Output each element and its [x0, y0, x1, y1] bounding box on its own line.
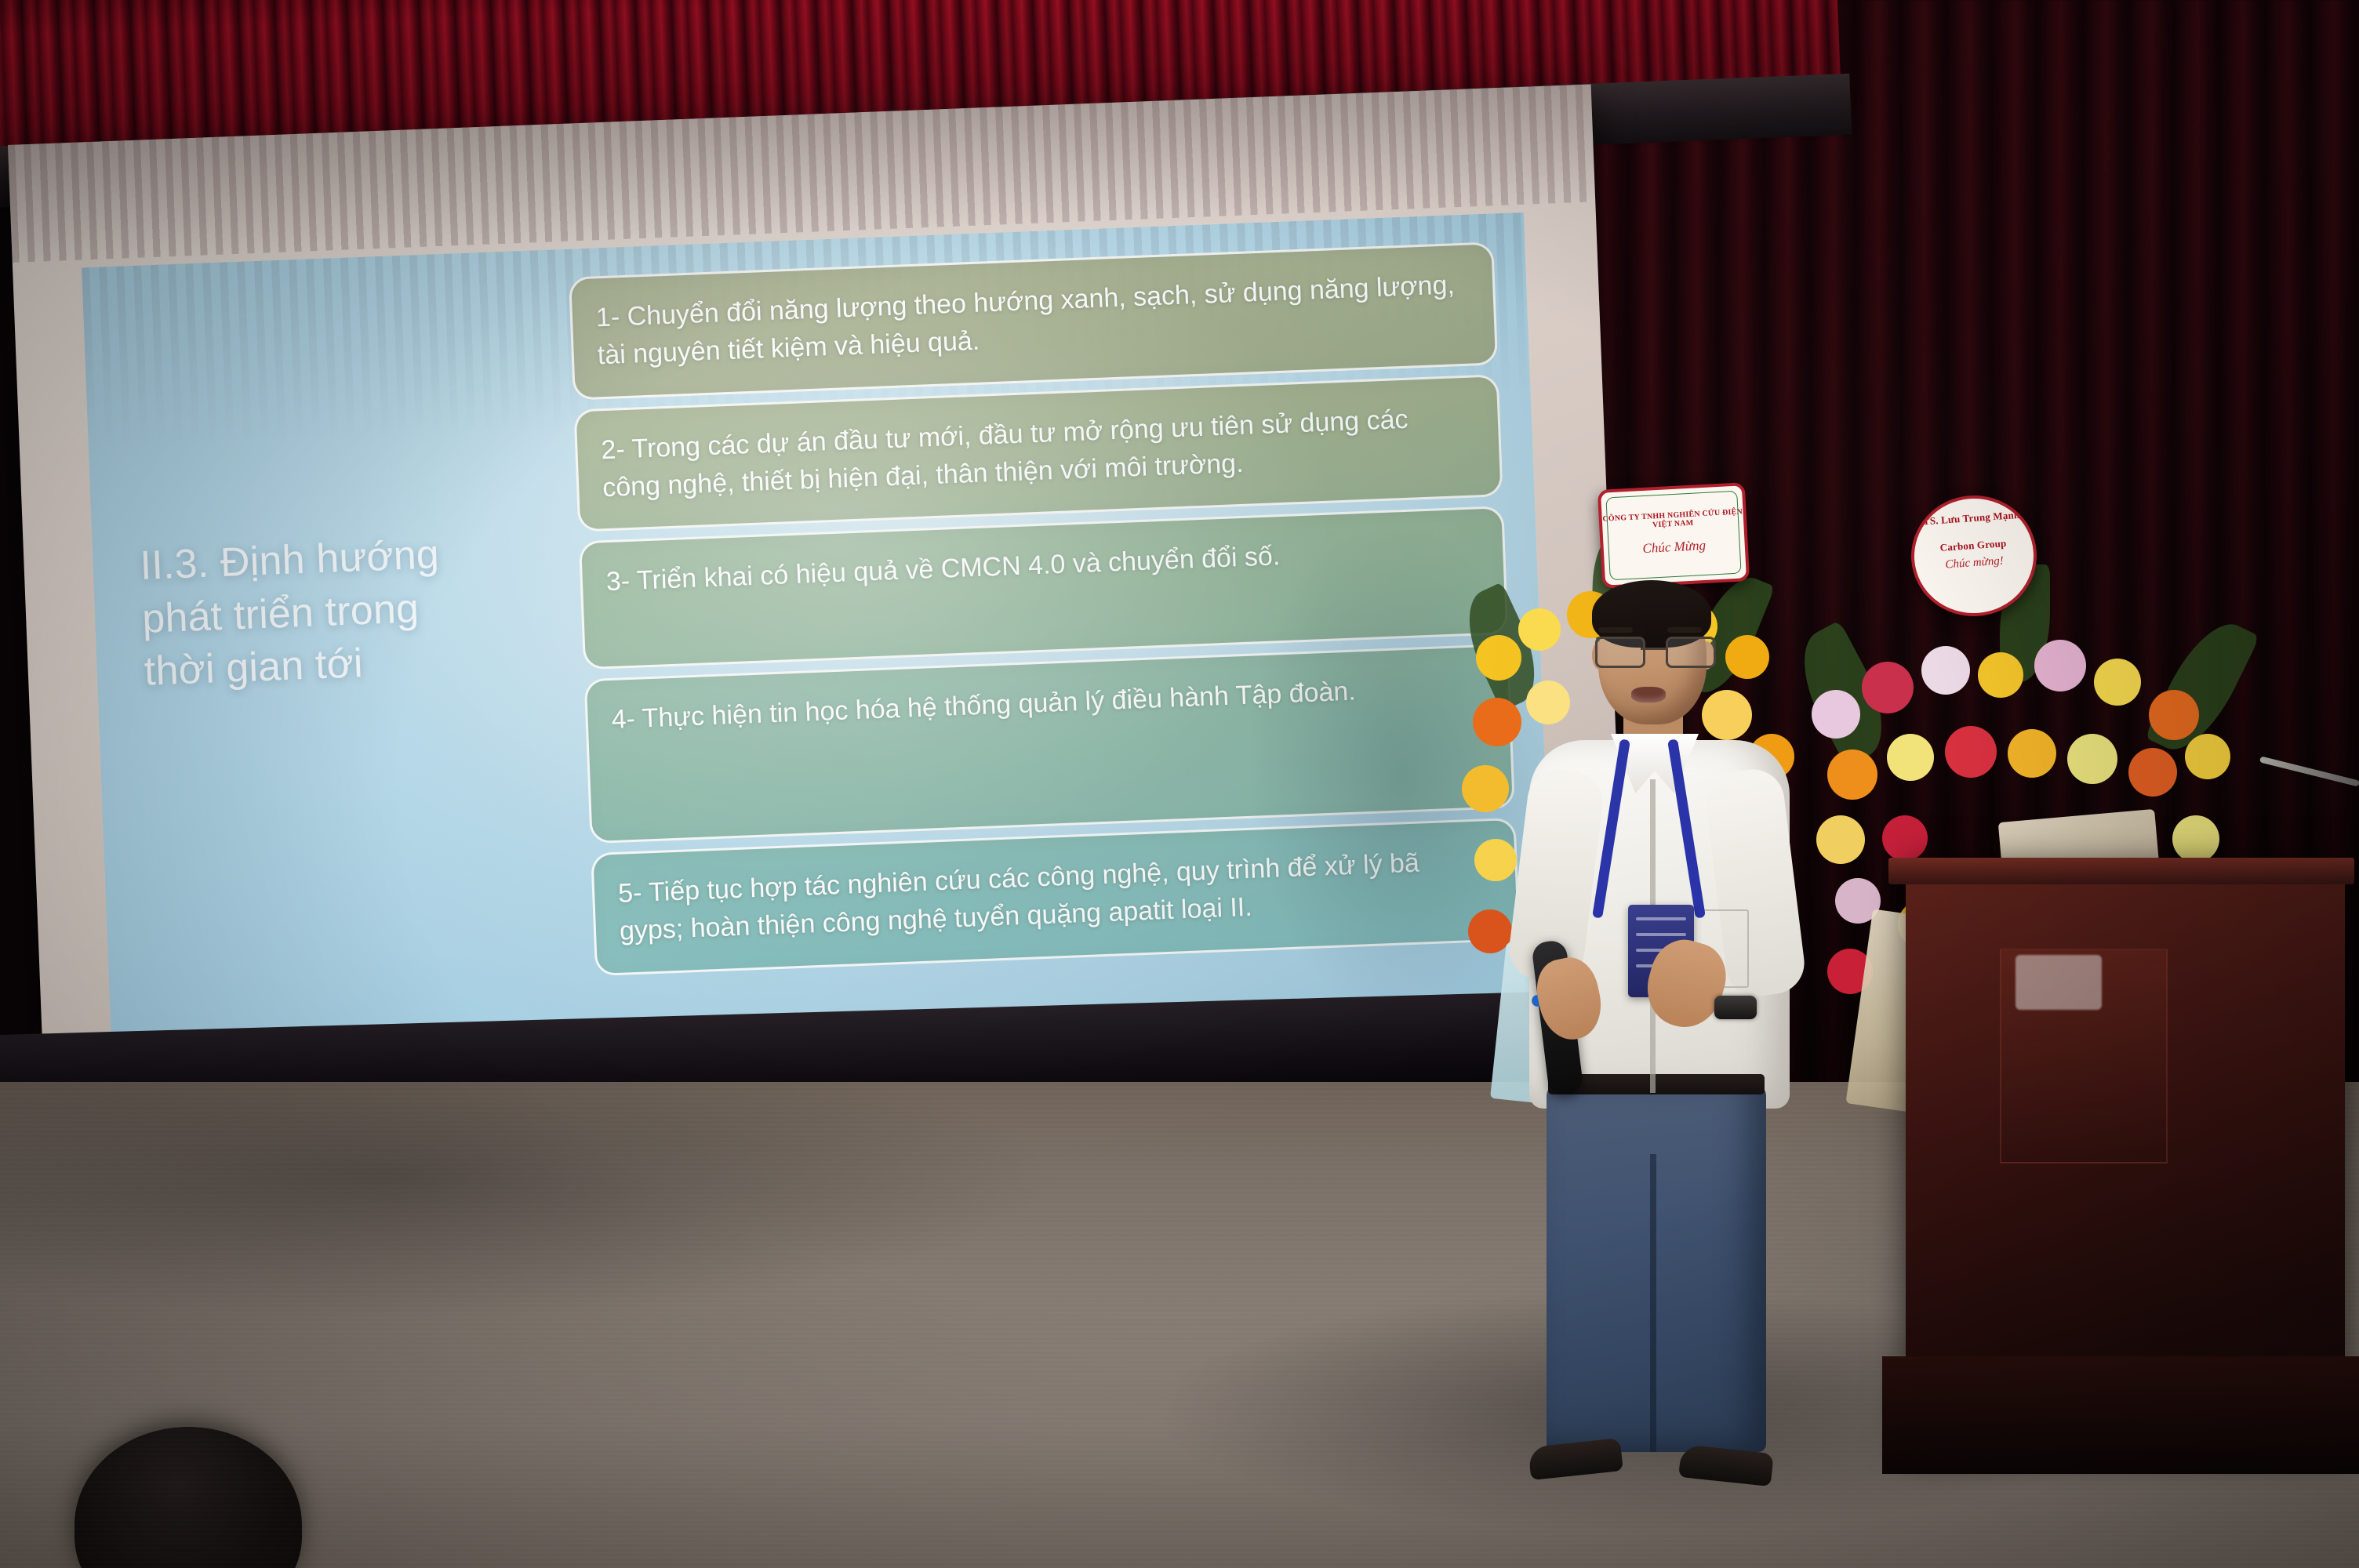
flower-blossom: [2128, 748, 2177, 797]
flower-blossom: [2185, 734, 2230, 779]
flower-blossom: [1462, 765, 1509, 812]
eyebrow-right: [1667, 627, 1702, 633]
slide-bullet-5: 5- Tiếp tục hợp tác nghiên cứu các công …: [591, 818, 1520, 976]
badge-line: [1636, 933, 1686, 936]
speaker-figure: [1514, 572, 1843, 1490]
slide-title: II.3. Định hướng phát triển trong thời g…: [139, 524, 560, 699]
photo-scene: II.3. Định hướng phát triển trong thời g…: [0, 0, 2359, 1568]
sign-greeting: Chúc Mừng: [1603, 535, 1745, 558]
flower-blossom: [1921, 646, 1970, 695]
lanyard-strap-right: [1667, 739, 1706, 918]
wristwatch: [1714, 996, 1757, 1019]
flower-blossom: [2067, 734, 2117, 784]
flower-blossom: [1978, 652, 2023, 698]
slide-bullet-list: 1- Chuyển đổi năng lượng theo hướng xanh…: [569, 241, 1521, 985]
audience-member-head: [75, 1427, 302, 1568]
flower-blossom: [2008, 729, 2056, 778]
flower-blossom: [1862, 662, 1914, 713]
jeans: [1547, 1083, 1766, 1452]
podium-top: [1888, 858, 2354, 884]
lens-right: [1666, 637, 1716, 668]
presentation-slide: II.3. Định hướng phát triển trong thời g…: [82, 212, 1554, 1059]
flower-blossom: [1474, 839, 1517, 881]
slide-bullet-2: 2- Trong các dự án đầu tư mới, đầu tư mở…: [573, 374, 1503, 532]
lanyard-strap-left: [1592, 739, 1630, 918]
sign-organization: CÔNG TY TNHH NGHIÊN CỨU ĐIỆN VIỆT NAM: [1602, 507, 1744, 532]
flower-blossom: [2172, 815, 2219, 862]
flower-blossom: [1882, 815, 1928, 861]
slide-bullet-4: 4- Thực hiện tin học hóa hệ thống quản l…: [584, 644, 1515, 844]
podium-paper: [2016, 955, 2102, 1010]
badge-line: [1636, 917, 1686, 920]
flower-blossom: [2094, 659, 2141, 706]
eyebrow-left: [1598, 627, 1633, 633]
flower-blossom: [2149, 690, 2199, 740]
glasses-bridge: [1641, 648, 1666, 650]
flower-blossom: [2034, 640, 2086, 691]
flower-blossom: [1945, 726, 1997, 778]
eyeglasses-icon: [1595, 637, 1713, 663]
slide-bullet-3: 3- Triển khai có hiệu quả về CMCN 4.0 và…: [579, 506, 1508, 670]
podium-base: [1882, 1356, 2359, 1474]
mouth: [1631, 687, 1666, 702]
wooden-podium: [1906, 870, 2345, 1466]
lens-left: [1595, 637, 1645, 668]
projection-screen: II.3. Định hướng phát triển trong thời g…: [8, 84, 1630, 1152]
flower-blossom: [1887, 734, 1934, 781]
shoe-left: [1528, 1438, 1623, 1480]
